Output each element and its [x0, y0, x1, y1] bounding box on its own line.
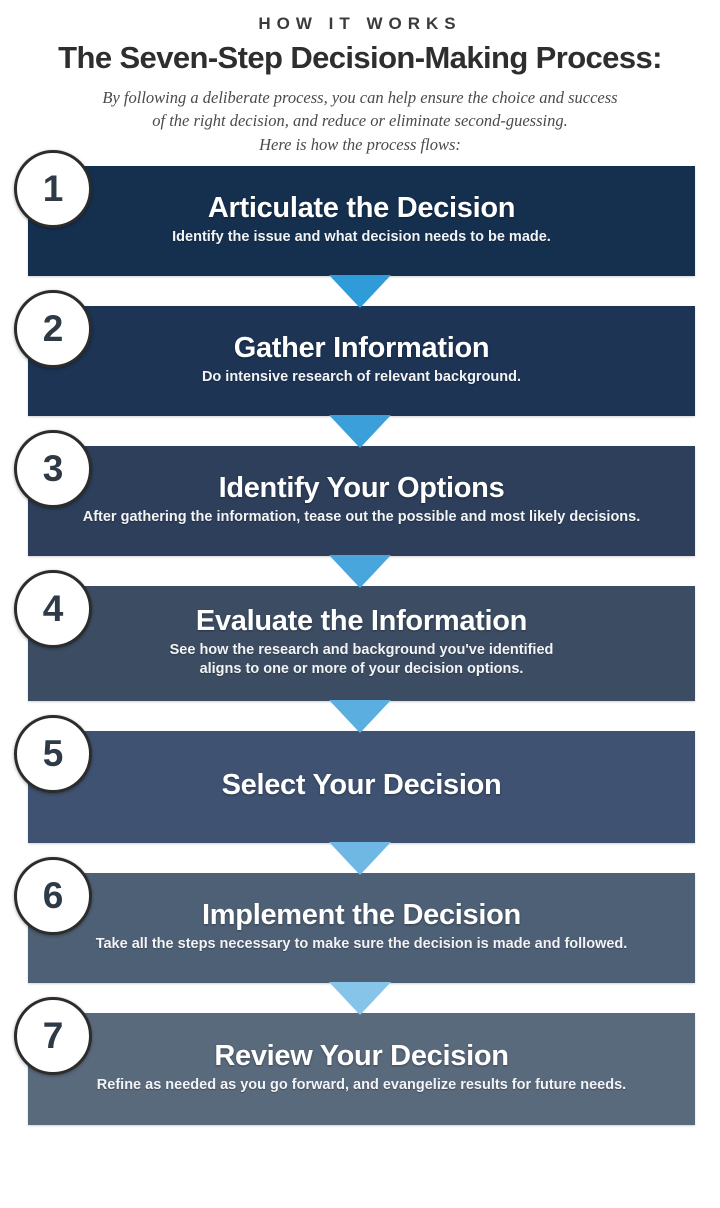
- process-step: 1Articulate the DecisionIdentify the iss…: [0, 166, 720, 276]
- step-description: Refine as needed as you go forward, and …: [97, 1076, 626, 1095]
- process-step: 2Gather InformationDo intensive research…: [0, 306, 720, 416]
- process-step: 5Select Your Decision: [0, 731, 720, 843]
- step-title: Articulate the Decision: [208, 192, 515, 224]
- step-title: Review Your Decision: [214, 1040, 508, 1072]
- process-step: 4Evaluate the InformationSee how the res…: [0, 586, 720, 701]
- subtitle: By following a deliberate process, you c…: [50, 86, 670, 156]
- step-title: Implement the Decision: [202, 899, 521, 931]
- step-description-line-2: aligns to one or more of your decision o…: [200, 660, 524, 679]
- step-title: Evaluate the Information: [196, 605, 527, 637]
- step-box: 4Evaluate the InformationSee how the res…: [28, 586, 695, 701]
- step-description: Identify the issue and what decision nee…: [172, 228, 551, 247]
- step-box: 2Gather InformationDo intensive research…: [28, 306, 695, 416]
- subtitle-line-1: By following a deliberate process, you c…: [50, 86, 670, 109]
- subtitle-line-2: of the right decision, and reduce or eli…: [50, 109, 670, 132]
- step-title: Select Your Decision: [222, 769, 502, 801]
- step-description: Do intensive research of relevant backgr…: [202, 368, 521, 387]
- infographic-root: HOW IT WORKS The Seven-Step Decision-Mak…: [0, 0, 720, 1208]
- process-steps-list: 1Articulate the DecisionIdentify the iss…: [0, 166, 720, 1125]
- step-title: Identify Your Options: [219, 472, 505, 504]
- step-number-badge: 5: [14, 715, 92, 793]
- subtitle-line-3: Here is how the process flows:: [50, 133, 670, 156]
- step-box: 5Select Your Decision: [28, 731, 695, 843]
- step-number-badge: 6: [14, 857, 92, 935]
- step-number-badge: 3: [14, 430, 92, 508]
- flow-arrow-down-icon: [0, 843, 720, 873]
- arrow-triangle: [329, 842, 391, 875]
- arrow-triangle: [329, 275, 391, 308]
- process-step: 7Review Your DecisionRefine as needed as…: [0, 1013, 720, 1125]
- step-description: Take all the steps necessary to make sur…: [96, 935, 628, 954]
- flow-arrow-down-icon: [0, 276, 720, 306]
- step-box: 3Identify Your OptionsAfter gathering th…: [28, 446, 695, 556]
- arrow-triangle: [329, 555, 391, 588]
- step-number-badge: 2: [14, 290, 92, 368]
- flow-arrow-down-icon: [0, 701, 720, 731]
- process-step: 3Identify Your OptionsAfter gathering th…: [0, 446, 720, 556]
- step-number-badge: 4: [14, 570, 92, 648]
- kicker-label: HOW IT WORKS: [0, 14, 720, 34]
- step-description: See how the research and background you'…: [170, 641, 554, 660]
- arrow-triangle: [329, 700, 391, 733]
- step-number-badge: 1: [14, 150, 92, 228]
- step-number-badge: 7: [14, 997, 92, 1075]
- step-description: After gathering the information, tease o…: [83, 508, 641, 527]
- flow-arrow-down-icon: [0, 556, 720, 586]
- flow-arrow-down-icon: [0, 416, 720, 446]
- flow-arrow-down-icon: [0, 983, 720, 1013]
- header: HOW IT WORKS The Seven-Step Decision-Mak…: [0, 0, 720, 156]
- step-box: 7Review Your DecisionRefine as needed as…: [28, 1013, 695, 1125]
- step-box: 6Implement the DecisionTake all the step…: [28, 873, 695, 983]
- process-step: 6Implement the DecisionTake all the step…: [0, 873, 720, 983]
- arrow-triangle: [329, 415, 391, 448]
- arrow-triangle: [329, 982, 391, 1015]
- step-title: Gather Information: [234, 332, 490, 364]
- step-box: 1Articulate the DecisionIdentify the iss…: [28, 166, 695, 276]
- page-title: The Seven-Step Decision-Making Process:: [0, 40, 720, 76]
